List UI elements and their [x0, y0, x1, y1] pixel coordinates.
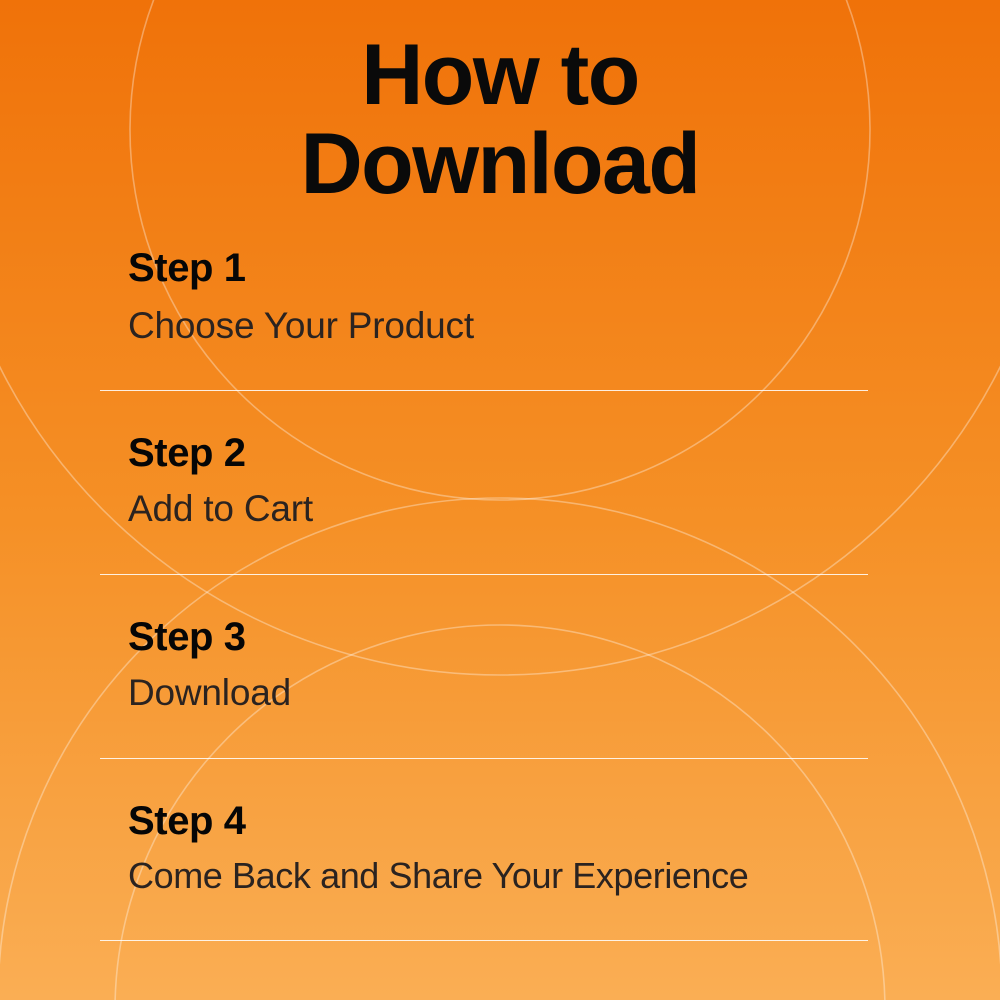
step-4-description: Come Back and Share Your Experience — [128, 858, 868, 894]
page-title: How to Download — [0, 34, 1000, 205]
step-4-divider — [100, 940, 868, 941]
step-3-description: Download — [128, 674, 868, 711]
step-1-label: Step 1 — [128, 248, 868, 288]
list-item: Step 1 Choose Your Product — [100, 248, 868, 391]
steps-list: Step 1 Choose Your Product Step 2 Add to… — [100, 248, 868, 941]
step-2-label: Step 2 — [128, 433, 868, 473]
step-1-description: Choose Your Product — [128, 307, 868, 344]
poster-canvas: How to Download Step 1 Choose Your Produ… — [0, 0, 1000, 1000]
list-item: Step 4 Come Back and Share Your Experien… — [100, 759, 868, 941]
page-title-line-1: How to — [0, 34, 1000, 117]
step-3-label: Step 3 — [128, 617, 868, 657]
list-item: Step 2 Add to Cart — [100, 391, 868, 575]
page-title-line-2: Download — [0, 123, 1000, 206]
list-item: Step 3 Download — [100, 575, 868, 759]
step-4-label: Step 4 — [128, 801, 868, 841]
step-2-description: Add to Cart — [128, 490, 868, 527]
